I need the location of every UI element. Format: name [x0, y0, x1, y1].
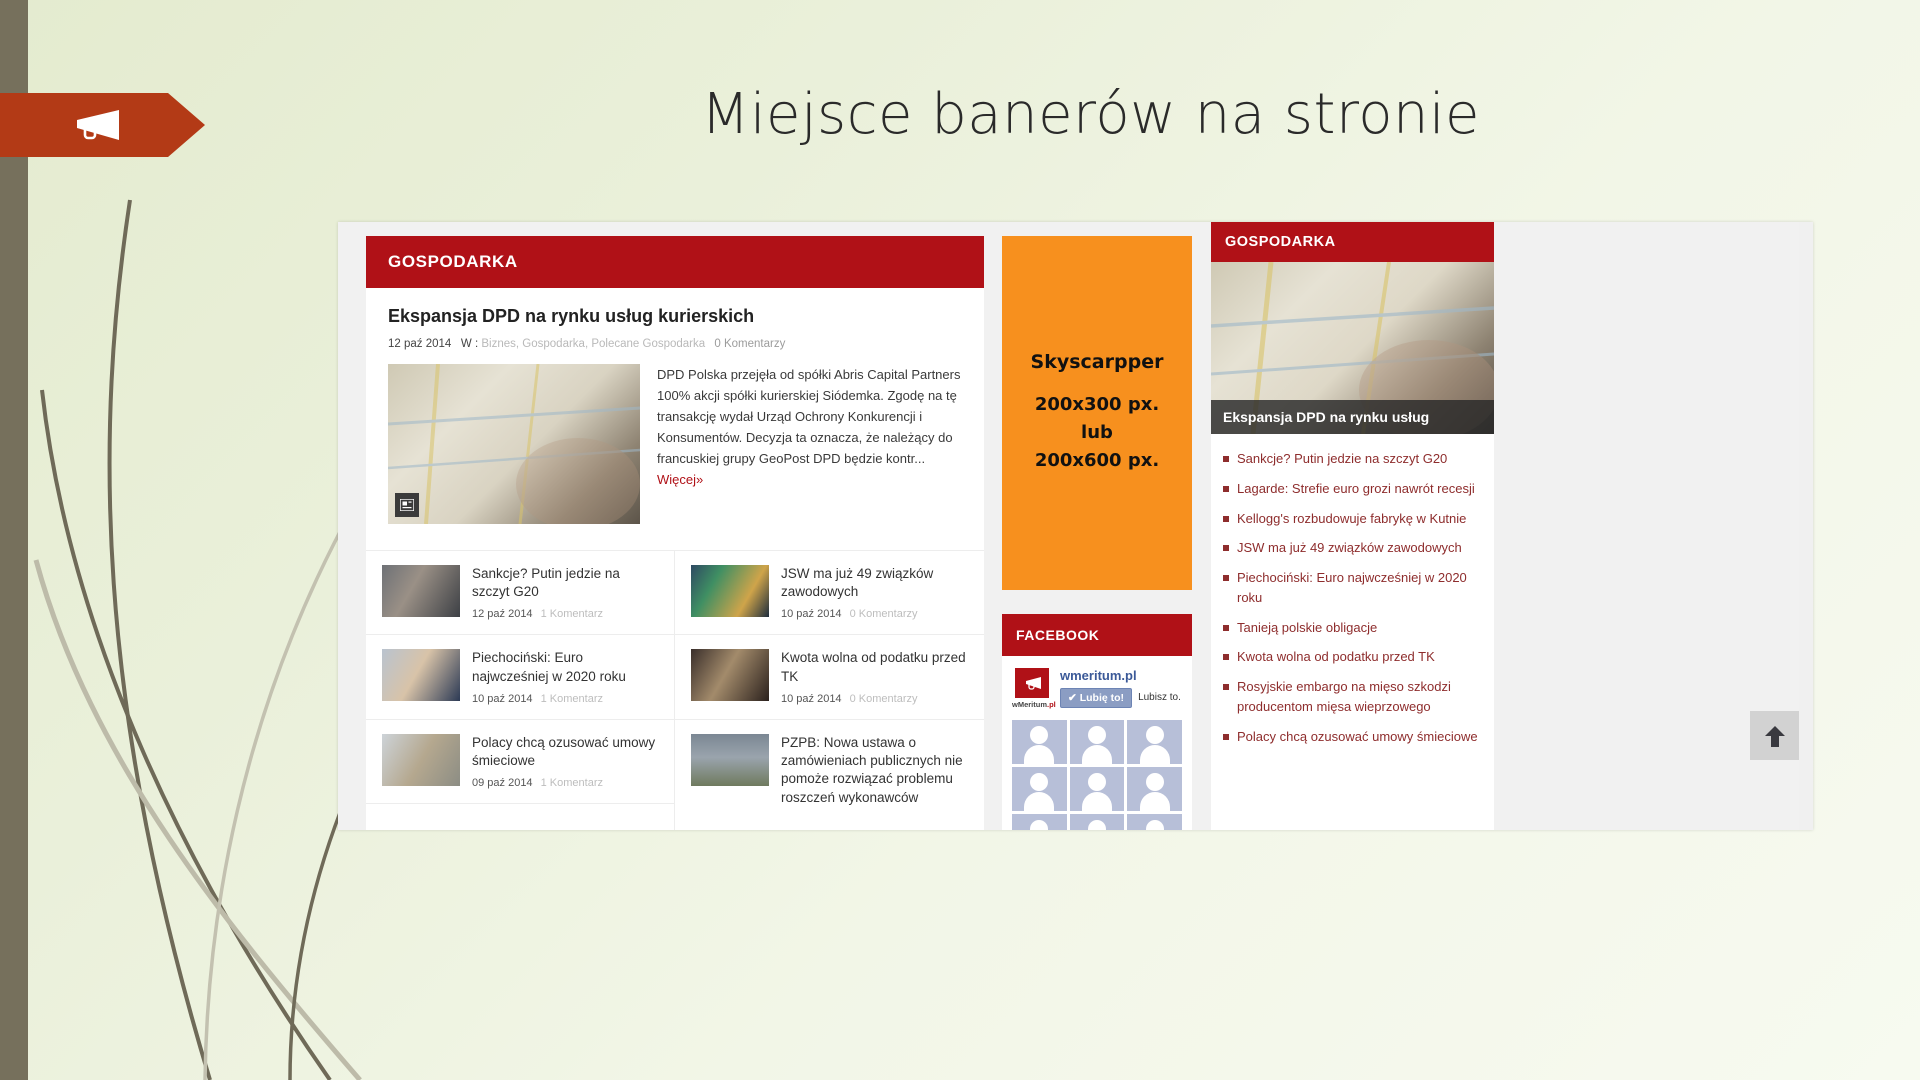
presentation-slide: Miejsce banerów na stronie GOSPODARKA Ek…	[0, 0, 1920, 1080]
list-item-thumbnail	[382, 734, 460, 786]
article-grid-right-column: JSW ma już 49 związków zawodowych 10 paź…	[675, 551, 984, 830]
facebook-page-name[interactable]: wmeritum.pl	[1060, 668, 1181, 683]
bullet-icon	[1223, 575, 1229, 581]
ad-size-secondary: 200x600 px.	[1035, 447, 1159, 475]
megaphone-icon	[1015, 668, 1049, 698]
list-item[interactable]: Rosyjskie embargo na mięso szkodzi produ…	[1223, 672, 1482, 722]
featured-article-thumbnail[interactable]	[388, 364, 640, 524]
article-category-biznes[interactable]: Biznes	[481, 338, 516, 350]
bullet-icon	[1223, 486, 1229, 492]
list-item[interactable]: Polacy chcą ozusować umowy śmieciowe 09 …	[366, 720, 674, 804]
list-item-meta: 10 paź 2014 1 Komentarz	[472, 693, 658, 705]
article-grid: Sankcje? Putin jedzie na szczyt G20 12 p…	[366, 550, 984, 830]
arrow-up-icon	[1764, 724, 1786, 748]
read-more-chevron-icon[interactable]: »	[696, 472, 703, 487]
list-item-title[interactable]: PZPB: Nowa ustawa o zamówieniach publicz…	[781, 734, 968, 807]
avatar[interactable]	[1070, 720, 1125, 764]
list-item[interactable]: Piechociński: Euro najwcześniej w 2020 r…	[366, 635, 674, 719]
list-item-comments[interactable]: 0 Komentarzy	[850, 608, 918, 620]
avatar[interactable]	[1012, 767, 1067, 811]
list-item-comments[interactable]: 1 Komentarz	[541, 777, 603, 789]
list-item-date: 09 paź 2014	[472, 777, 533, 789]
page-title: Miejsce banerów na stronie	[660, 82, 1480, 147]
bullet-icon	[1223, 545, 1229, 551]
check-icon: ✔	[1068, 692, 1077, 704]
list-item[interactable]: Sankcje? Putin jedzie na szczyt G20 12 p…	[366, 551, 674, 635]
ad-label: Skyscarpper	[1031, 351, 1164, 373]
list-item-meta	[781, 814, 968, 826]
bullet-icon	[1223, 456, 1229, 462]
bullet-icon	[1223, 654, 1229, 660]
list-item-label[interactable]: Sankcje? Putin jedzie na szczyt G20	[1237, 449, 1447, 469]
list-item-thumbnail	[691, 565, 769, 617]
section-header-gospodarka: GOSPODARKA	[366, 236, 984, 288]
list-item[interactable]: PZPB: Nowa ustawa o zamówieniach publicz…	[675, 720, 984, 830]
list-item-title[interactable]: Piechociński: Euro najwcześniej w 2020 r…	[472, 649, 658, 685]
website-screenshot: GOSPODARKA Ekspansja DPD na rynku usług …	[338, 222, 1813, 830]
gospodarka-sidebar-column: GOSPODARKA Ekspansja DPD na rynku usług …	[1211, 222, 1494, 830]
featured-article-body: DPD Polska przejęła od spółki Abris Capi…	[388, 364, 962, 524]
featured-article-meta: 12 paź 2014 W : Biznes, Gospodarka, Pole…	[388, 338, 962, 350]
list-item[interactable]: Piechociński: Euro najwcześniej w 2020 r…	[1223, 563, 1482, 613]
list-item-comments[interactable]: 0 Komentarzy	[850, 693, 918, 705]
list-item-meta: 12 paź 2014 1 Komentarz	[472, 608, 658, 620]
list-item[interactable]: Lagarde: Strefie euro grozi nawrót reces…	[1223, 474, 1482, 504]
featured-article-title[interactable]: Ekspansja DPD na rynku usług kurierskich	[388, 306, 962, 327]
featured-article-excerpt: DPD Polska przejęła od spółki Abris Capi…	[657, 364, 962, 524]
bullet-icon	[1223, 625, 1229, 631]
avatar[interactable]	[1127, 767, 1182, 811]
list-item-title[interactable]: JSW ma już 49 związków zawodowych	[781, 565, 968, 601]
list-item[interactable]: Tanieją polskie obligacje	[1223, 613, 1482, 643]
list-item[interactable]: Kwota wolna od podatku przed TK	[1223, 642, 1482, 672]
sidebar-column: Skyscarpper 200x300 px. lub 200x600 px. …	[1002, 236, 1192, 830]
list-item-title[interactable]: Polacy chcą ozusować umowy śmieciowe	[472, 734, 658, 770]
featured-article: Ekspansja DPD na rynku usług kurierskich…	[366, 288, 984, 534]
article-date: 12 paź 2014	[388, 338, 451, 350]
bullet-icon	[1223, 684, 1229, 690]
scroll-to-top-button[interactable]	[1750, 711, 1799, 760]
list-item-label[interactable]: Kwota wolna od podatku przed TK	[1237, 647, 1435, 667]
list-item-date: 10 paź 2014	[781, 693, 842, 705]
list-item-thumbnail	[691, 649, 769, 701]
list-item-date: 12 paź 2014	[472, 608, 533, 620]
list-item[interactable]: Polacy chcą ozusować umowy śmieciowe	[1223, 722, 1482, 752]
avatar[interactable]	[1070, 767, 1125, 811]
gospodarka-hero-image[interactable]: Ekspansja DPD na rynku usług	[1211, 262, 1494, 434]
gospodarka-sidebar-header: GOSPODARKA	[1211, 222, 1494, 262]
avatar[interactable]	[1127, 814, 1182, 830]
list-item-meta: 10 paź 2014 0 Komentarzy	[781, 608, 968, 620]
list-item-comments[interactable]: 1 Komentarz	[541, 693, 603, 705]
list-item[interactable]: Kwota wolna od podatku przed TK 10 paź 2…	[675, 635, 984, 719]
map-photo-graphic	[388, 364, 640, 524]
gospodarka-hero-caption[interactable]: Ekspansja DPD na rynku usług	[1211, 400, 1494, 434]
article-category-gospodarka[interactable]: Gospodarka	[522, 338, 585, 350]
article-grid-left-column: Sankcje? Putin jedzie na szczyt G20 12 p…	[366, 551, 675, 830]
list-item-label[interactable]: Polacy chcą ozusować umowy śmieciowe	[1237, 727, 1478, 747]
list-item-label[interactable]: Tanieją polskie obligacje	[1237, 618, 1377, 638]
list-item[interactable]: Kellogg's rozbudowuje fabrykę w Kutnie	[1223, 504, 1482, 534]
avatar[interactable]	[1070, 814, 1125, 830]
slide-banner	[0, 93, 205, 157]
main-content-column: GOSPODARKA Ekspansja DPD na rynku usług …	[366, 236, 984, 830]
article-comment-count[interactable]: 0 Komentarzy	[714, 338, 785, 350]
list-item-label[interactable]: Rosyjskie embargo na mięso szkodzi produ…	[1237, 677, 1482, 717]
facebook-page-logo: wMeritum.pl	[1012, 668, 1052, 709]
read-more-link[interactable]: Więcej	[657, 472, 696, 487]
page-scrollbar[interactable]	[1799, 222, 1813, 830]
slide-left-bar	[0, 0, 28, 1080]
ad-size-primary: 200x300 px.	[1035, 391, 1159, 419]
list-item-meta: 09 paź 2014 1 Komentarz	[472, 777, 658, 789]
list-item-thumbnail	[382, 565, 460, 617]
list-item-thumbnail	[691, 734, 769, 786]
ad-size-separator: lub	[1035, 419, 1159, 447]
article-format-icon	[395, 493, 419, 517]
avatar[interactable]	[1127, 720, 1182, 764]
facebook-avatar-grid	[1012, 720, 1182, 830]
article-in-label: W :	[461, 338, 478, 350]
list-item[interactable]: Sankcje? Putin jedzie na szczyt G20	[1223, 444, 1482, 474]
facebook-like-status: Lubisz to.	[1138, 692, 1181, 705]
list-item-title[interactable]: Kwota wolna od podatku przed TK	[781, 649, 968, 685]
list-item-date: 10 paź 2014	[472, 693, 533, 705]
facebook-widget: FACEBOOK wMeritum.pl	[1002, 614, 1192, 830]
article-category-polecane[interactable]: Polecane Gospodarka	[591, 338, 705, 350]
list-item-label[interactable]: JSW ma już 49 związków zawodowych	[1237, 538, 1462, 558]
list-item-comments[interactable]: 1 Komentarz	[541, 608, 603, 620]
avatar[interactable]	[1012, 720, 1067, 764]
list-item[interactable]: JSW ma już 49 związków zawodowych 10 paź…	[675, 551, 984, 635]
facebook-logo-text: wMeritum.pl	[1012, 700, 1052, 709]
megaphone-icon	[63, 108, 125, 142]
list-item-label[interactable]: Lagarde: Strefie euro grozi nawrót reces…	[1237, 479, 1475, 499]
avatar[interactable]	[1012, 814, 1067, 830]
list-item-label[interactable]: Piechociński: Euro najwcześniej w 2020 r…	[1237, 568, 1482, 608]
facebook-widget-header: FACEBOOK	[1002, 614, 1192, 656]
list-item-thumbnail	[382, 649, 460, 701]
list-item-label[interactable]: Kellogg's rozbudowuje fabrykę w Kutnie	[1237, 509, 1466, 529]
list-item-title[interactable]: Sankcje? Putin jedzie na szczyt G20	[472, 565, 658, 601]
list-item[interactable]: JSW ma już 49 związków zawodowych	[1223, 533, 1482, 563]
bullet-icon	[1223, 734, 1229, 740]
list-item-meta: 10 paź 2014 0 Komentarzy	[781, 693, 968, 705]
gospodarka-link-list: Sankcje? Putin jedzie na szczyt G20 Laga…	[1211, 434, 1494, 751]
skyscraper-ad-placeholder[interactable]: Skyscarpper 200x300 px. lub 200x600 px.	[1002, 236, 1192, 590]
bullet-icon	[1223, 516, 1229, 522]
list-item-date: 10 paź 2014	[781, 608, 842, 620]
facebook-like-button[interactable]: ✔ Lubię to!	[1060, 688, 1132, 708]
excerpt-text: DPD Polska przejęła od spółki Abris Capi…	[657, 367, 960, 466]
